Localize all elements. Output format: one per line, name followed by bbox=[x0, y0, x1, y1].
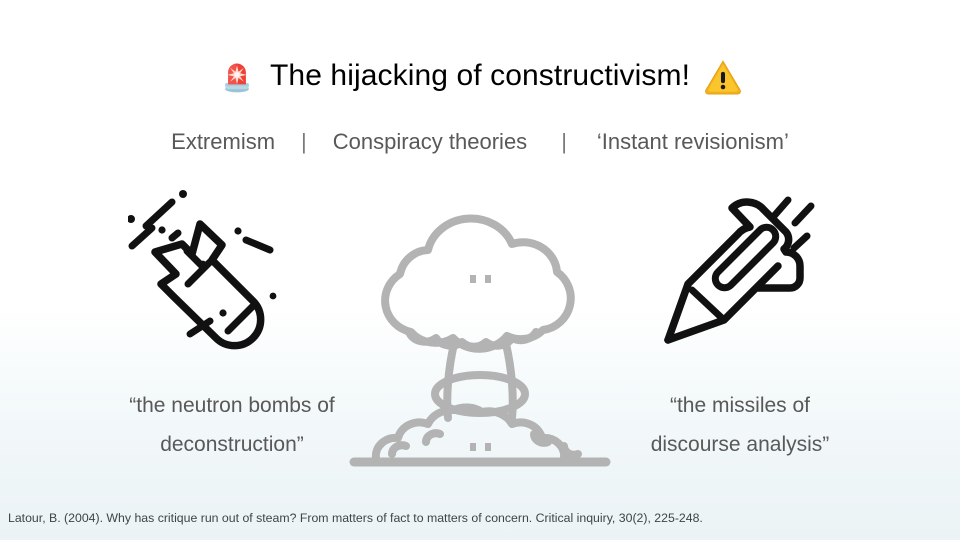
missile-launch-icon bbox=[654, 186, 840, 354]
police-car-light-icon bbox=[218, 57, 256, 95]
subtitle-item-instant-revisionism: ‘Instant revisionism’ bbox=[597, 129, 789, 155]
title-text: The hijacking of constructivism! bbox=[270, 59, 690, 93]
warning-sign-icon bbox=[704, 57, 742, 95]
caption-left-line-2: deconstruction” bbox=[62, 425, 402, 464]
subtitle-item-extremism: Extremism bbox=[171, 129, 275, 155]
subtitle-item-conspiracy-theories: Conspiracy theories bbox=[333, 129, 527, 155]
slide-canvas: The hijacking of constructivism! Extremi… bbox=[0, 0, 960, 540]
subtitle-separator-2: | bbox=[561, 129, 567, 155]
caption-left: “the neutron bombs of deconstruction” bbox=[62, 386, 402, 464]
subtitle-row: Extremism | Conspiracy theories | ‘Insta… bbox=[0, 129, 960, 155]
falling-bomb-icon bbox=[128, 186, 314, 350]
caption-right-line-2: discourse analysis” bbox=[570, 425, 910, 464]
caption-left-line-1: “the neutron bombs of bbox=[62, 386, 402, 425]
caption-right: “the missiles of discourse analysis” bbox=[570, 386, 910, 464]
slide-title: The hijacking of constructivism! bbox=[0, 52, 960, 100]
citation-text: Latour, B. (2004). Why has critique run … bbox=[8, 511, 703, 525]
caption-right-line-1: “the missiles of bbox=[570, 386, 910, 425]
subtitle-separator-1: | bbox=[301, 129, 307, 155]
